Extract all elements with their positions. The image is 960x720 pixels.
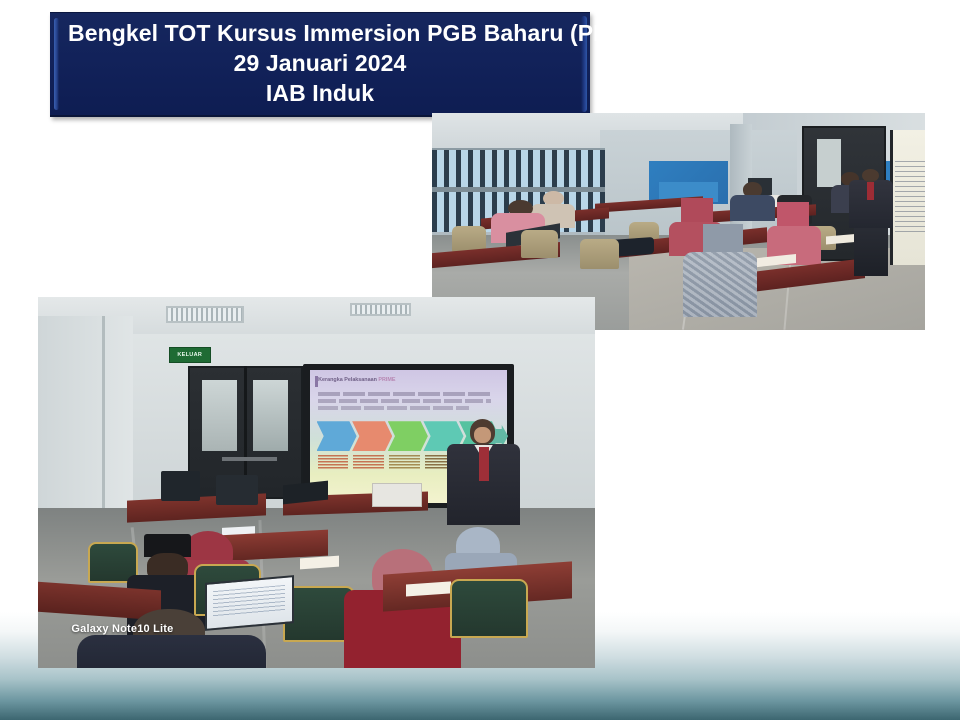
title-text-block: Bengkel TOT Kursus Immersion PGB Baharu … [50,19,590,109]
classroom-presentation-photo: KELUAR Kerangka Pelaksanaan PRIME [38,297,595,668]
door-push-bar [222,457,278,461]
slide-step-caption [389,455,420,470]
slide-body-text-line [318,399,491,403]
projected-slide-text [895,161,925,235]
chair [521,230,558,258]
laptop [283,480,328,503]
printer [372,483,422,507]
door-glass-right [253,380,288,450]
title-banner: Bengkel TOT Kursus Immersion PGB Baharu … [50,12,590,117]
slide-body-text-line [318,406,468,410]
title-line-3: IAB Induk [68,79,572,109]
paper [300,555,339,569]
title-line-1: Bengkel TOT Kursus Immersion PGB Baharu … [68,19,572,49]
slide-title-main: Kerangka Pelaksanaan [318,377,378,383]
computer-monitor [216,475,258,505]
door-glass [817,139,842,187]
presenter-tie [479,447,488,480]
presentation-slide: Bengkel TOT Kursus Immersion PGB Baharu … [0,0,960,720]
participant-dress-pattern [683,252,757,317]
presenter-tie [867,182,874,199]
ceiling-light [350,303,411,316]
exit-sign: KELUAR [169,347,211,363]
slide-step-caption [353,455,384,470]
participant-body [730,195,774,221]
foreground-participant-body [77,635,266,668]
projected-slide-title: Kerangka Pelaksanaan PRIME [318,377,474,383]
computer-monitor [161,471,200,501]
exit-sign-label: KELUAR [177,352,202,358]
door-glass-left [202,380,237,450]
photo-scene: KELUAR Kerangka Pelaksanaan PRIME [38,297,595,668]
chair [450,579,528,638]
slide-body-text-line [318,392,491,396]
window-frame [432,187,605,192]
slide-step-caption [318,455,349,470]
slide-title-accent: PRIME [378,377,395,383]
ceiling-light [166,306,244,323]
camera-watermark: Galaxy Note10 Lite [71,623,173,635]
title-line-2: 29 Januari 2024 [68,49,572,79]
chair [580,239,619,269]
presenter-face [474,427,491,443]
presenter-legs [854,226,889,276]
